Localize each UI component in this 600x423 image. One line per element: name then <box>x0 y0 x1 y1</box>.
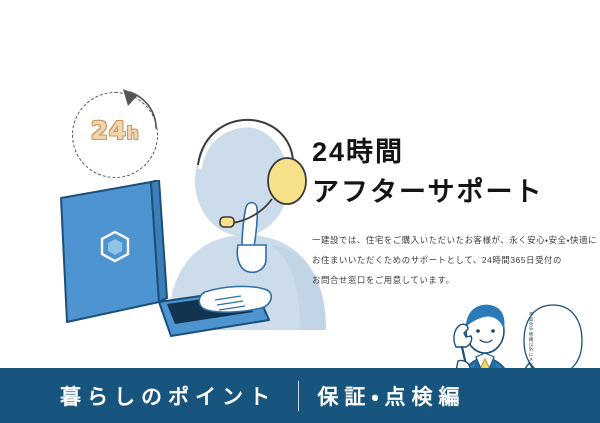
poster-canvas: 24h <box>0 0 600 423</box>
bubble-col-1: 不具合や修繕以外に <box>527 312 536 357</box>
body-line-3: お問合せ窓口をご用意しています。 <box>312 270 572 290</box>
banner-divider <box>298 381 299 411</box>
speech-bubble-text: 不具合や修繕以外に メンテナンスのご相談も お受けしています <box>527 312 536 368</box>
blue-laptop <box>55 180 285 340</box>
body-copy: 一建設では、住宅をご購入いただいたお客様が、永く安心・安全・快適に お住まいいた… <box>312 230 572 290</box>
copy-block: 24時間 アフターサポート 一建設では、住宅をご購入いただいたお客様が、永く安心… <box>312 132 572 290</box>
badge-label: 24h <box>68 116 162 145</box>
badge-number: 24 <box>91 116 127 145</box>
body-line-1: 一建設では、住宅をご購入いただいたお客様が、永く安心・安全・快適に <box>312 230 572 250</box>
banner-right-label: 保証・点検編 <box>317 381 465 411</box>
headline-line-1: 24時間 <box>312 137 404 167</box>
banner-content: 暮らしのポイント 保証・点検編 <box>0 368 600 423</box>
body-line-2: お住まいいただくためのサポートとして、24時間365日受付の <box>312 250 572 270</box>
banner-left-label: 暮らしのポイント <box>60 381 276 411</box>
badge-unit: h <box>127 124 140 144</box>
headline-line-2: アフターサポート <box>312 172 572 212</box>
page-title: 24時間 アフターサポート <box>312 132 572 212</box>
bottom-banner: 暮らしのポイント 保証・点検編 <box>0 368 600 423</box>
